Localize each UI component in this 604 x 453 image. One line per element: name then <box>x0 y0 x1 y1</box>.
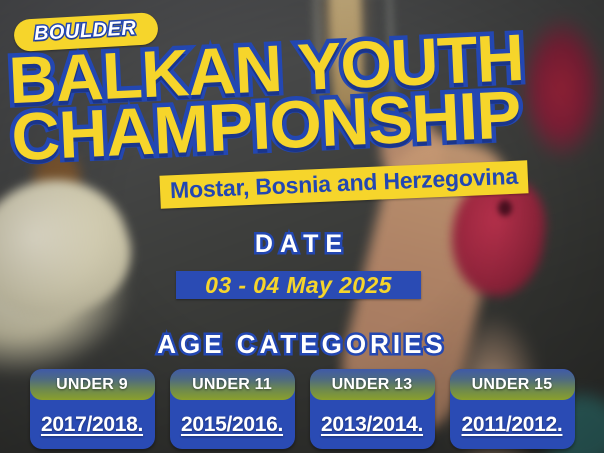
age-category-years-row: 2013/2014. <box>321 400 423 449</box>
date-value-bar: 03 - 04 May 2025 <box>176 271 421 299</box>
age-category-years: 2013/2014. <box>321 413 423 437</box>
age-category-years-row: 2011/2012. <box>462 400 563 449</box>
age-categories-list: UNDER 9 2017/2018. UNDER 11 2015/2016. U… <box>0 369 604 453</box>
age-category-card: UNDER 13 2013/2014. <box>310 369 435 449</box>
age-category-card: UNDER 15 2011/2012. <box>450 369 575 449</box>
boulder-badge-label: BOULDER <box>33 17 136 45</box>
date-heading: DATE <box>0 230 604 259</box>
age-category-years: 2017/2018. <box>41 413 143 437</box>
age-category-pill: UNDER 11 <box>170 369 295 400</box>
age-category-card: UNDER 9 2017/2018. <box>30 369 155 449</box>
age-category-label: UNDER 15 <box>472 376 553 394</box>
age-category-label: UNDER 13 <box>332 376 413 394</box>
headline-block: BOULDER BALKAN YOUTH CHAMPIONSHIP Mostar… <box>0 0 604 210</box>
age-category-pill: UNDER 13 <box>310 369 435 400</box>
age-category-years: 2015/2016. <box>181 413 283 437</box>
location-banner: Mostar, Bosnia and Herzegovina <box>159 160 528 208</box>
age-category-pill: UNDER 15 <box>450 369 575 400</box>
age-category-label: UNDER 11 <box>192 376 272 394</box>
age-category-card: UNDER 11 2015/2016. <box>170 369 295 449</box>
age-categories-heading: AGE CATEGORIES <box>0 329 604 360</box>
location-label: Mostar, Bosnia and Herzegovina <box>170 163 519 205</box>
date-value: 03 - 04 May 2025 <box>205 272 392 298</box>
poster-canvas: BOULDER BALKAN YOUTH CHAMPIONSHIP Mostar… <box>0 0 604 453</box>
age-category-pill: UNDER 9 <box>30 369 155 400</box>
age-category-label: UNDER 9 <box>56 376 128 394</box>
age-category-years-row: 2017/2018. <box>41 400 143 449</box>
age-category-years-row: 2015/2016. <box>181 400 283 449</box>
age-category-years: 2011/2012. <box>462 413 563 437</box>
